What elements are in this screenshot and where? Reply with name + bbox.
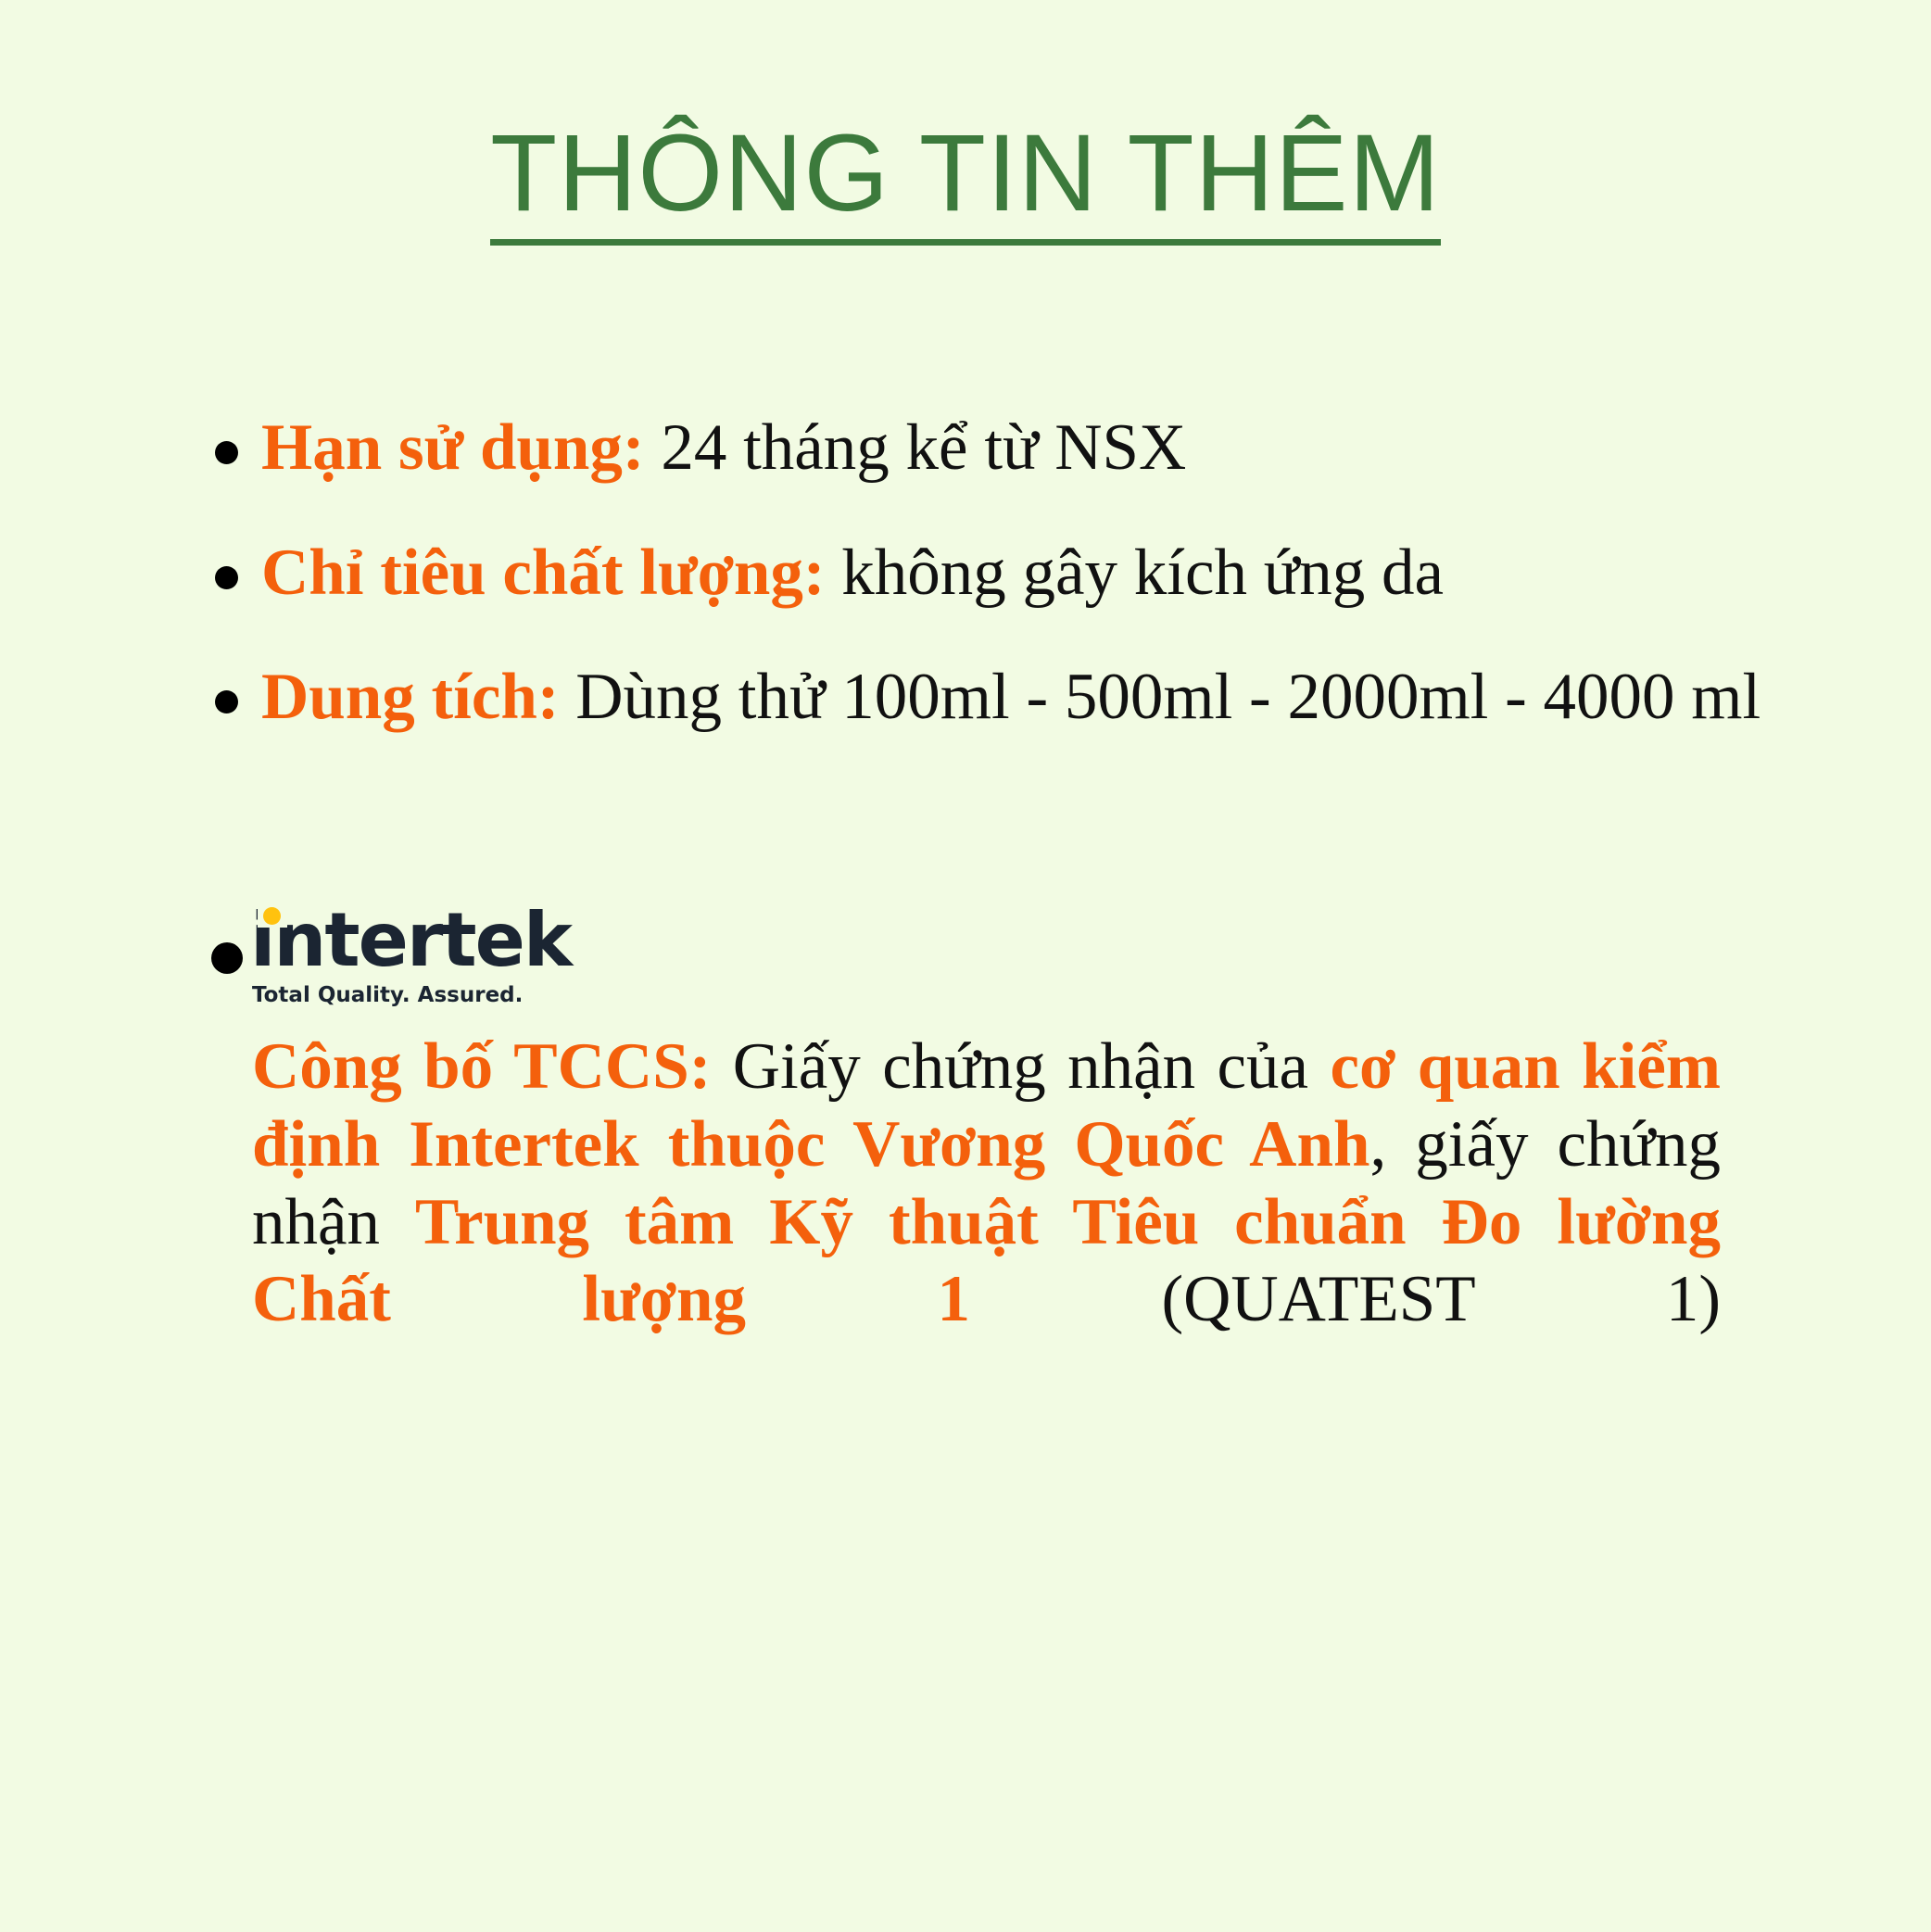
- page-title-container: THÔNG TIN THÊM: [0, 119, 1931, 246]
- list-item-value: Dùng thử 100ml - 500ml - 2000ml - 4000 m…: [560, 661, 1761, 733]
- page-root: THÔNG TIN THÊM Hạn sử dụng: 24 tháng kể …: [0, 0, 1931, 1932]
- tccs-segment-6: (QUATEST 1): [970, 1263, 1721, 1335]
- info-bullet-list: Hạn sử dụng: 24 tháng kể từ NSX Chỉ tiêu…: [209, 408, 1785, 782]
- intertek-logo: intertek Total Quality. Assured.: [211, 903, 600, 1015]
- intertek-wordmark: intertek: [250, 903, 571, 978]
- list-item: Dung tích: Dùng thử 100ml - 500ml - 2000…: [209, 657, 1785, 738]
- list-item-label: Hạn sử dụng:: [261, 411, 645, 484]
- bullet-dot-icon: [215, 566, 238, 589]
- list-item-text: Chỉ tiêu chất lượng: không gây kích ứng …: [261, 533, 1785, 613]
- list-item-value: không gây kích ứng da: [826, 537, 1445, 609]
- tccs-segment-2: Giấy chứng nhận của: [711, 1030, 1330, 1103]
- list-item-text: Hạn sử dụng: 24 tháng kể từ NSX: [261, 408, 1785, 488]
- intertek-tagline: Total Quality. Assured.: [252, 983, 523, 1007]
- intertek-logo-row: intertek: [211, 903, 600, 979]
- logo-bullet-dot-icon: [211, 942, 243, 974]
- tccs-segment-1: Công bố TCCS:: [252, 1030, 711, 1103]
- list-item-label: Chỉ tiêu chất lượng:: [261, 537, 826, 609]
- list-item-text: Dung tích: Dùng thử 100ml - 500ml - 2000…: [261, 657, 1785, 738]
- list-item: Chỉ tiêu chất lượng: không gây kích ứng …: [209, 533, 1785, 613]
- list-item: Hạn sử dụng: 24 tháng kể từ NSX: [209, 408, 1785, 488]
- list-item-value: 24 tháng kể từ NSX: [645, 411, 1187, 484]
- tccs-paragraph: Công bố TCCS: Giấy chứng nhận của cơ qua…: [252, 1029, 1721, 1417]
- bullet-dot-icon: [215, 441, 238, 464]
- logo-i-dot-icon: [263, 907, 281, 925]
- bullet-dot-icon: [215, 690, 238, 713]
- page-title: THÔNG TIN THÊM: [490, 119, 1441, 246]
- list-item-label: Dung tích:: [261, 661, 560, 733]
